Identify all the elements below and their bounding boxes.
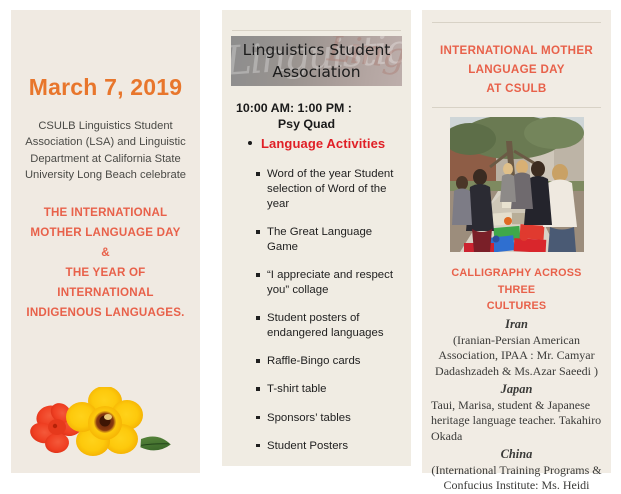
celebration-line-1: THE INTERNATIONAL [16,203,195,223]
celebration-line-6: INDIGENOUS LANGUAGES. [16,303,195,323]
culture-name: China [422,447,611,462]
lsa-logo: Linguistics Linguistics Linguistics Stud… [231,36,402,86]
list-item: Raffle-Bingo cards [256,354,405,369]
activities-heading-row: Language Activities [230,136,403,151]
list-item: Word of the year Student selection of Wo… [256,167,405,212]
celebration-headline: THE INTERNATIONAL MOTHER LANGUAGE DAY & … [11,203,200,323]
activity-list: Word of the year Student selection of Wo… [222,167,411,454]
list-item: “I appreciate and respect you” collage [256,268,405,298]
culture-china: China (International Training Programs &… [422,447,611,494]
imld-title: INTERNATIONAL MOTHER LANGUAGE DAY AT CSU… [430,42,603,98]
list-item: Sponsors’ tables [256,411,405,426]
calligraphy-title-line-1: CALLIGRAPHY ACROSS THREE [432,265,601,297]
culture-name: Japan [422,382,611,397]
lsa-logo-text: Linguistics Student Association [231,39,402,84]
calligraphy-title-line-2: CULTURES [432,298,601,314]
lsa-logo-line-1: Linguistics Student [231,39,402,61]
left-panel-content: March 7, 2019 CSULB Linguistics Student … [11,10,200,322]
culture-detail: Taui, Marisa, student & Japanese heritag… [422,398,611,444]
culture-iran: Iran (Iranian-Persian American Associati… [422,317,611,379]
right-panel-top-divider [432,22,601,23]
celebration-line-2: MOTHER LANGUAGE DAY [16,223,195,243]
culture-name: Iran [422,317,611,332]
right-panel: INTERNATIONAL MOTHER LANGUAGE DAY AT CSU… [422,10,611,473]
organization-blurb: CSULB Linguistics Student Association (L… [11,118,200,184]
event-photo [450,117,584,252]
imld-title-line-1: INTERNATIONAL MOTHER [430,42,603,61]
bullet-icon [248,141,252,145]
celebration-line-4: THE YEAR OF [16,263,195,283]
hibiscus-flowers-image [29,387,179,463]
celebration-line-5: INTERNATIONAL [16,283,195,303]
event-time: 10:00 AM: 1:00 PM : [230,101,403,115]
list-item: The Great Language Game [256,225,405,255]
imld-title-line-2: LANGUAGE DAY [430,61,603,80]
celebration-line-3: & [16,243,195,263]
left-panel: March 7, 2019 CSULB Linguistics Student … [11,10,200,473]
event-date: March 7, 2019 [11,74,200,101]
activities-heading: Language Activities [261,136,385,151]
schedule-block: 10:00 AM: 1:00 PM : Psy Quad Language Ac… [222,101,411,151]
lsa-logo-line-2: Association [231,61,402,83]
imld-title-line-3: AT CSULB [430,80,603,99]
list-item: T-shirt table [256,382,405,397]
middle-panel-divider [232,30,401,31]
calligraphy-title: CALLIGRAPHY ACROSS THREE CULTURES [432,265,601,314]
culture-japan: Japan Taui, Marisa, student & Japanese h… [422,382,611,444]
event-place: Psy Quad [230,117,403,131]
middle-panel: Linguistics Linguistics Linguistics Stud… [222,10,411,466]
culture-detail: (Iranian-Persian American Association, I… [422,333,611,379]
list-item: Student posters of endangered languages [256,311,405,341]
right-panel-photo-divider [432,107,601,108]
culture-detail: (International Training Programs & Confu… [422,463,611,494]
flyer-page: March 7, 2019 CSULB Linguistics Student … [0,0,621,480]
list-item: Student Posters [256,439,405,454]
